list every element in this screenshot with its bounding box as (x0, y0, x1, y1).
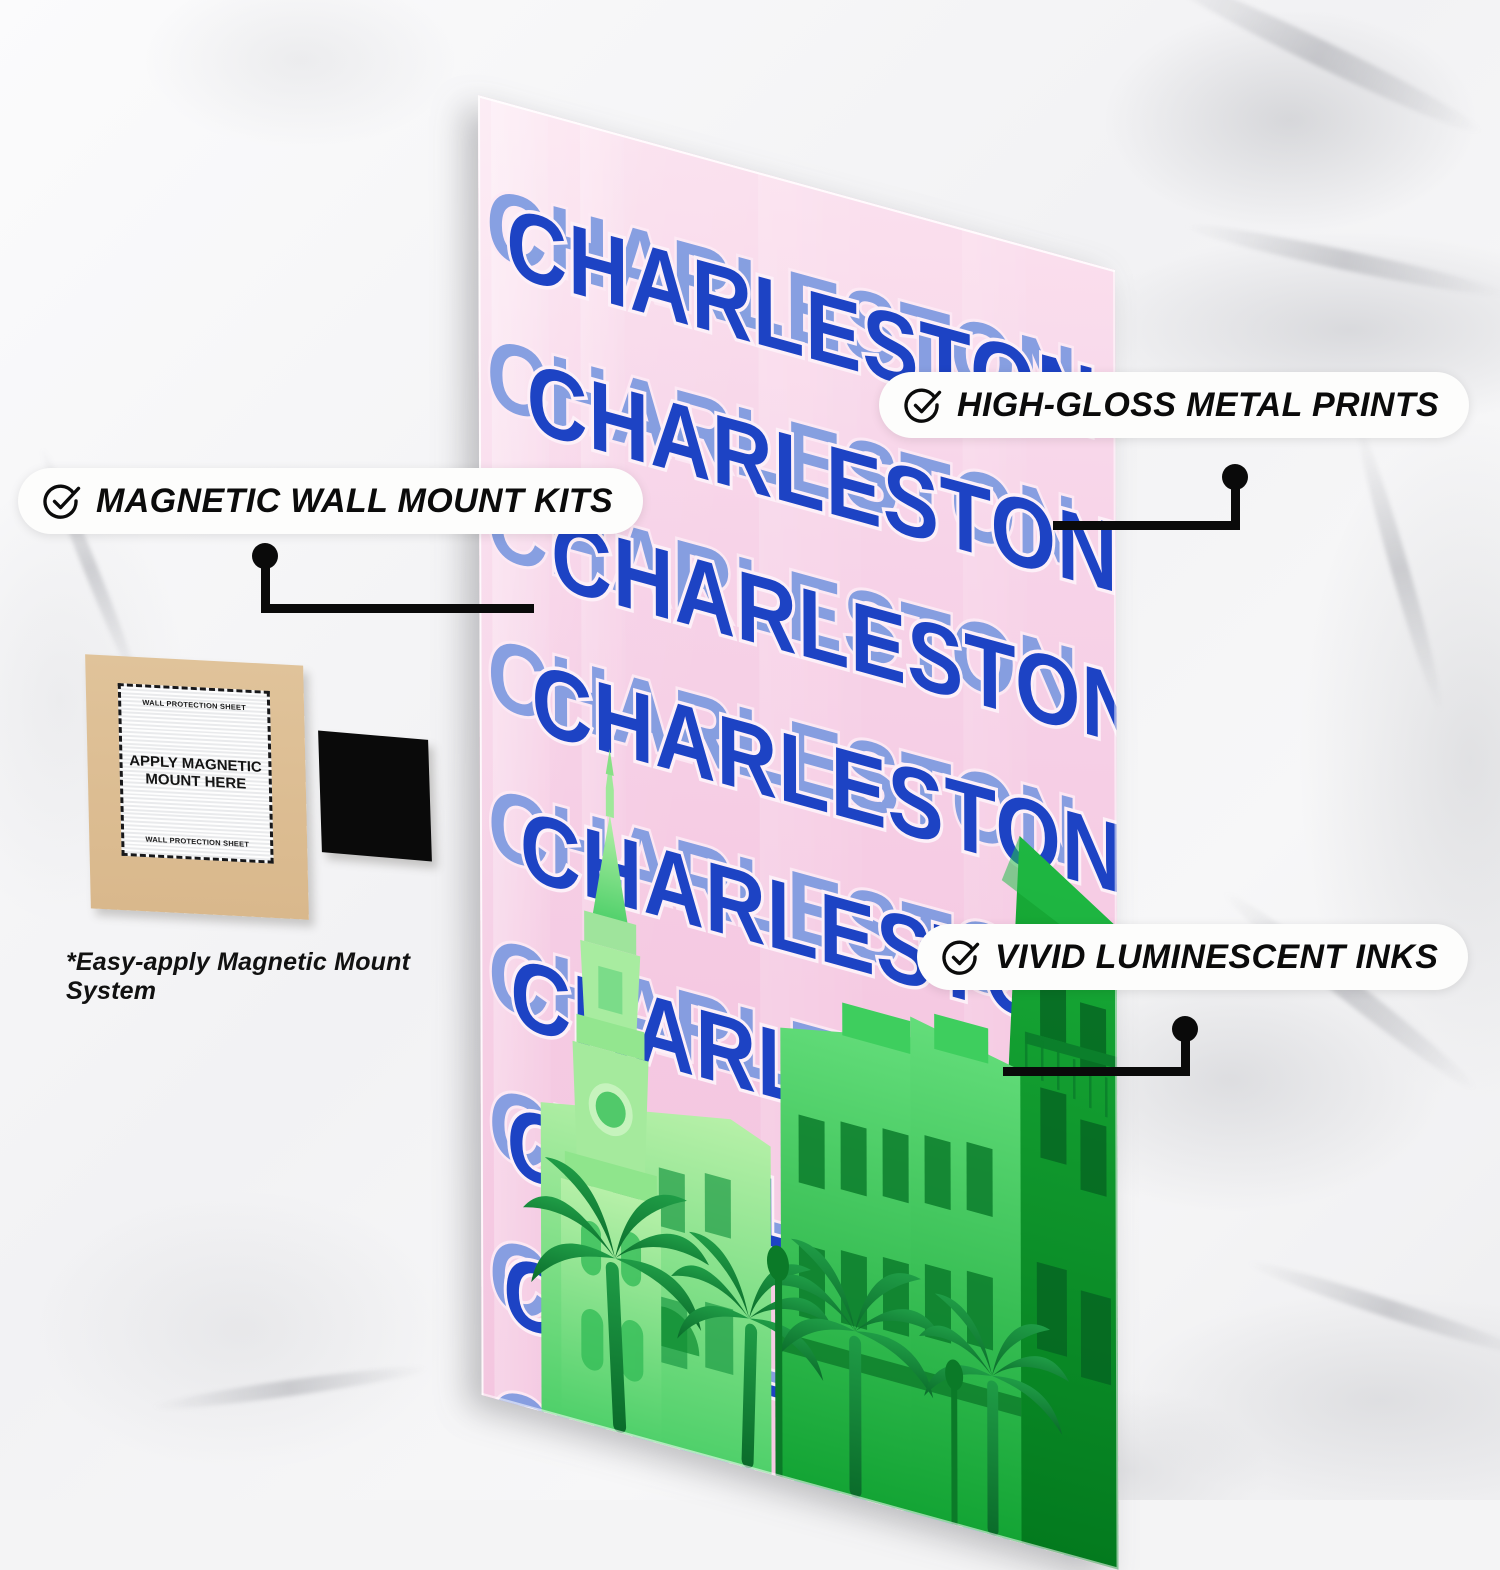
callout-label: HIGH-GLOSS METAL PRINTS (957, 386, 1439, 425)
check-circle-icon (903, 385, 943, 425)
leader-horizontal (261, 604, 534, 613)
wall-protection-sheet: WALL PROTECTION SHEET APPLY MAGNETIC MOU… (118, 683, 274, 864)
magnet-plate (318, 731, 432, 862)
magnetic-mount-illustration: WALL PROTECTION SHEET APPLY MAGNETIC MOU… (88, 648, 448, 948)
leader-horizontal (1003, 1067, 1190, 1076)
mount-system-caption: *Easy-apply Magnetic Mount System (66, 948, 486, 1006)
callout-magnetic-wall-mount-kits[interactable]: MAGNETIC WALL MOUNT KITS (18, 468, 643, 534)
check-circle-icon (941, 937, 981, 977)
sheet-bottom-label: WALL PROTECTION SHEET (145, 835, 249, 849)
sheet-top-label: WALL PROTECTION SHEET (142, 698, 246, 712)
callout-label: VIVID LUMINESCENT INKS (995, 938, 1438, 977)
sheet-main-label: APPLY MAGNETIC MOUNT HERE (129, 753, 262, 794)
kraft-backing-board: WALL PROTECTION SHEET APPLY MAGNETIC MOU… (85, 654, 309, 919)
leader-horizontal (1053, 521, 1240, 530)
metal-print-poster[interactable]: CHARLESTON CHARLESTON CHARLESTON CHARLES… (478, 95, 1119, 1570)
poster-wordmark-block: CHARLESTON CHARLESTON CHARLESTON CHARLES… (478, 95, 1119, 1570)
callout-vivid-luminescent-inks[interactable]: VIVID LUMINESCENT INKS (917, 924, 1468, 990)
callout-high-gloss-metal-prints[interactable]: HIGH-GLOSS METAL PRINTS (879, 372, 1469, 438)
callout-label: MAGNETIC WALL MOUNT KITS (96, 482, 613, 521)
check-circle-icon (42, 481, 82, 521)
